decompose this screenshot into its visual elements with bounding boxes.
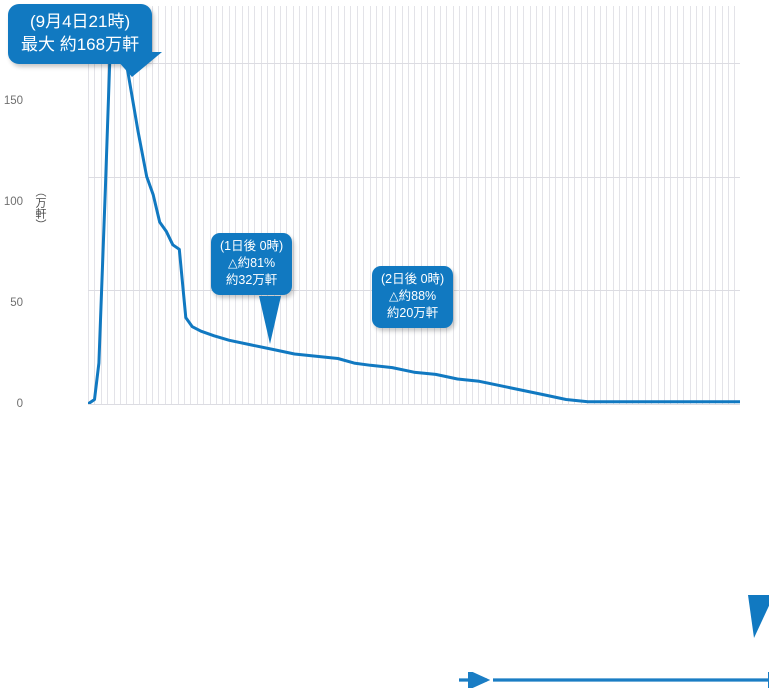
y-axis-label: （万軒） <box>26 186 46 230</box>
callout-day2-line1: (2日後 0時) <box>381 271 444 288</box>
callout-peak-line1: (9月4日21時) <box>21 10 139 33</box>
y-tick-100: 100 <box>0 196 23 208</box>
callout-day1: (1日後 0時) △約81% 約32万軒 <box>211 233 292 295</box>
callout-day2-line3: 約20万軒 <box>381 305 444 322</box>
callout-peak-tail <box>110 52 180 78</box>
y-tick-50: 50 <box>0 297 23 309</box>
callout-day1-tail <box>259 296 299 346</box>
outage-line-series <box>88 6 740 404</box>
timeline-axis <box>457 672 769 688</box>
y-tick-0: 0 <box>0 398 23 410</box>
callout-day2: (2日後 0時) △約88% 約20万軒 (3日後 0時) △約95% 約８万軒… <box>372 266 453 328</box>
chart-canvas: （万軒） 0 50 100 150 (9月4日21時) 最大 約168万軒 (1… <box>0 0 769 425</box>
callout-day2-tail <box>748 595 769 639</box>
callout-day1-line2: △約81% <box>220 255 283 272</box>
callout-day1-line3: 約32万軒 <box>220 272 283 289</box>
callout-day2-line2: △約88% <box>381 288 444 305</box>
y-tick-150: 150 <box>0 95 23 107</box>
plot-area <box>88 6 740 404</box>
callout-day1-line1: (1日後 0時) <box>220 238 283 255</box>
